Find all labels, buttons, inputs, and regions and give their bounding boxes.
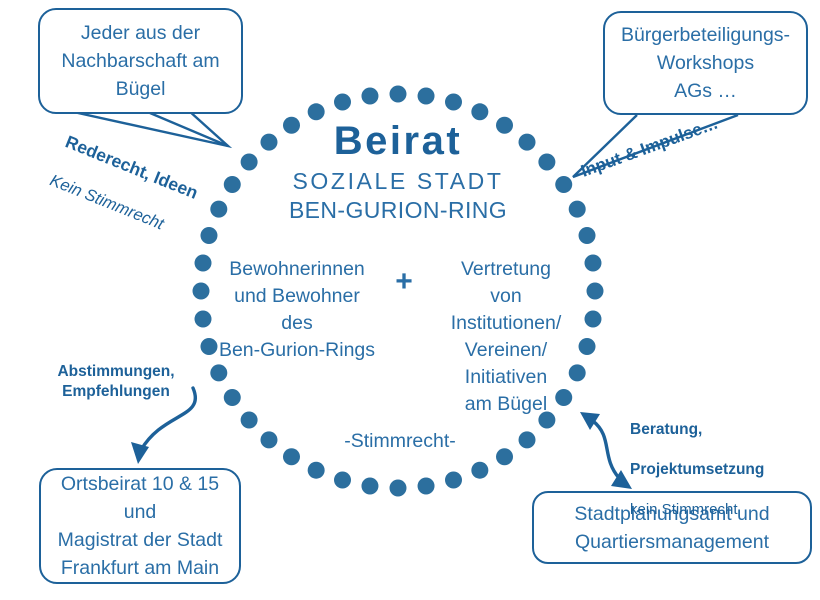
ring-dot (361, 88, 378, 105)
arrow-abstimmungen-head (131, 442, 149, 464)
bubble-tail-top-left-edge (150, 113, 228, 146)
ring-dot (260, 134, 277, 151)
bubble-ortsbeirat[interactable]: Ortsbeirat 10 & 15 und Magistrat der Sta… (39, 468, 241, 584)
ring-dot (308, 103, 325, 120)
ring-dot (260, 431, 277, 448)
ring-dot (579, 227, 596, 244)
ring-dot (390, 480, 407, 497)
ring-dot (308, 462, 325, 479)
plus-icon: + (386, 256, 422, 295)
bubble-neighbourhood[interactable]: Jeder aus der Nachbarschaft am Bügel (38, 8, 243, 114)
arrow-beratung (593, 421, 619, 478)
ring-dot (200, 227, 217, 244)
ring-dot (210, 201, 227, 218)
ring-dot (418, 88, 435, 105)
ring-dot (519, 134, 536, 151)
bubble-workshops-text: Bürgerbeteiligungs- Workshops AGs … (615, 21, 796, 105)
subtitle-ben-gurion-ring: BEN-GURION-RING (210, 196, 586, 225)
voting-right-note: -Stimmrecht- (280, 430, 520, 453)
ring-dot (519, 431, 536, 448)
ring-dot (445, 93, 462, 110)
ring-dot (390, 86, 407, 103)
caption-beratung-line1: Beratung, (630, 420, 790, 440)
ring-dot (241, 153, 258, 170)
ring-dot (334, 93, 351, 110)
page-title: Beirat (210, 118, 586, 164)
ring-dot (224, 176, 241, 193)
bubble-neighbourhood-text: Jeder aus der Nachbarschaft am Bügel (55, 19, 225, 103)
caption-rederecht: Rederecht, Ideen Kein Stimmrecht (39, 112, 209, 262)
caption-beratung-line2: Projektumsetzung (630, 460, 790, 480)
subtitle-soziale-stadt: SOZIALE STADT (210, 166, 586, 196)
ring-dot (445, 472, 462, 489)
ring-dot (538, 153, 555, 170)
column-residents: Bewohnerinnen und Bewohner des Ben-Gurio… (208, 256, 386, 364)
center-title-group: Beirat SOZIALE STADT BEN-GURION-RING (210, 118, 586, 225)
ring-dot (283, 117, 300, 134)
ring-dot (569, 201, 586, 218)
ring-dot (555, 176, 572, 193)
ring-dot (471, 103, 488, 120)
ring-dot (361, 477, 378, 494)
ring-dot (496, 117, 513, 134)
column-institutions: Vertretung von Institutionen/ Vereinen/ … (422, 256, 590, 418)
ring-dot (418, 477, 435, 494)
ring-dot (471, 462, 488, 479)
center-columns: Bewohnerinnen und Bewohner des Ben-Gurio… (206, 256, 592, 418)
caption-input-impulse: Input & Impulse… (578, 113, 721, 182)
caption-beratung: Beratung, Projektumsetzung kein Stimmrec… (630, 400, 790, 540)
caption-abstimmungen: Abstimmungen, Empfehlungen (46, 362, 186, 402)
arrow-beratung-head-down (611, 470, 632, 489)
bubble-workshops[interactable]: Bürgerbeteiligungs- Workshops AGs … (603, 11, 808, 115)
diagram-canvas: Jeder aus der Nachbarschaft am Bügel Bür… (0, 0, 820, 600)
ring-dot (334, 472, 351, 489)
caption-beratung-line3: kein Stimmrecht (630, 500, 790, 520)
bubble-ortsbeirat-text: Ortsbeirat 10 & 15 und Magistrat der Sta… (52, 470, 229, 582)
